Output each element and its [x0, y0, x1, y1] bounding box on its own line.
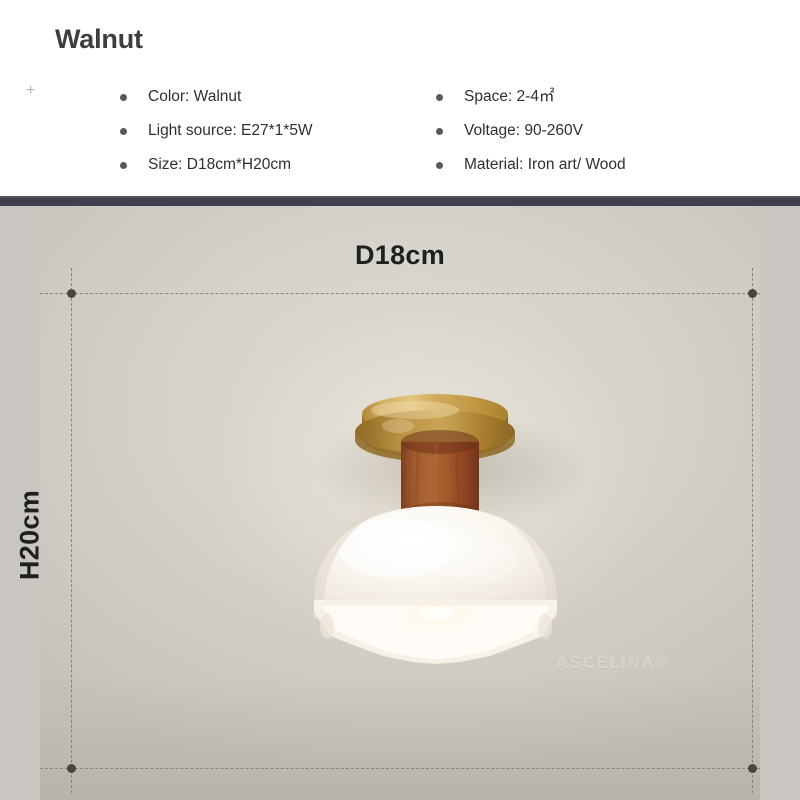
spec-column-left: Color: Walnut Light source: E27*1*5W Siz… — [120, 80, 440, 182]
list-item: Size: D18cm*H20cm — [120, 148, 440, 182]
guide-node-bottom-right — [748, 764, 757, 773]
spec-label: Material: Iron art/ Wood — [464, 156, 626, 173]
bullet-icon — [436, 128, 443, 135]
guide-line-right-vertical — [752, 268, 753, 793]
spec-label: Light source: E27*1*5W — [148, 122, 313, 139]
list-item: Space: 2-4㎡ — [436, 80, 776, 114]
list-item: Color: Walnut — [120, 80, 440, 114]
spec-label: Size: D18cm*H20cm — [148, 156, 291, 173]
spec-label: Voltage: 90-260V — [464, 122, 583, 139]
bullet-icon — [120, 128, 127, 135]
bullet-icon — [436, 162, 443, 169]
bullet-icon — [120, 162, 127, 169]
guide-line-bottom-horizontal — [40, 768, 760, 769]
divider-highlight — [0, 196, 800, 198]
specification-panel: Walnut + Color: Walnut Light source: E27… — [0, 0, 800, 196]
dimension-label-height: H20cm — [15, 490, 46, 580]
list-item: Voltage: 90-260V — [436, 114, 776, 148]
dimension-label-width: D18cm — [0, 240, 800, 271]
wall-lower-shading — [40, 676, 760, 800]
spec-label: Color: Walnut — [148, 88, 241, 105]
product-photo-stage — [0, 206, 800, 800]
page-title: Walnut — [55, 24, 143, 55]
guide-node-top-left — [67, 289, 76, 298]
bullet-icon — [436, 94, 443, 101]
plus-icon: + — [26, 83, 35, 99]
bullet-icon — [120, 94, 127, 101]
list-item: Material: Iron art/ Wood — [436, 148, 776, 182]
guide-line-left-vertical — [71, 268, 72, 793]
list-item: Light source: E27*1*5W — [120, 114, 440, 148]
guide-line-top-horizontal — [40, 293, 760, 294]
brand-watermark: ASCELINA® — [556, 653, 669, 673]
spec-column-right: Space: 2-4㎡ Voltage: 90-260V Material: I… — [436, 80, 776, 182]
spec-label: Space: 2-4㎡ — [464, 88, 554, 105]
guide-node-bottom-left — [67, 764, 76, 773]
guide-node-top-right — [748, 289, 757, 298]
product-spec-page: Walnut + Color: Walnut Light source: E27… — [0, 0, 800, 800]
